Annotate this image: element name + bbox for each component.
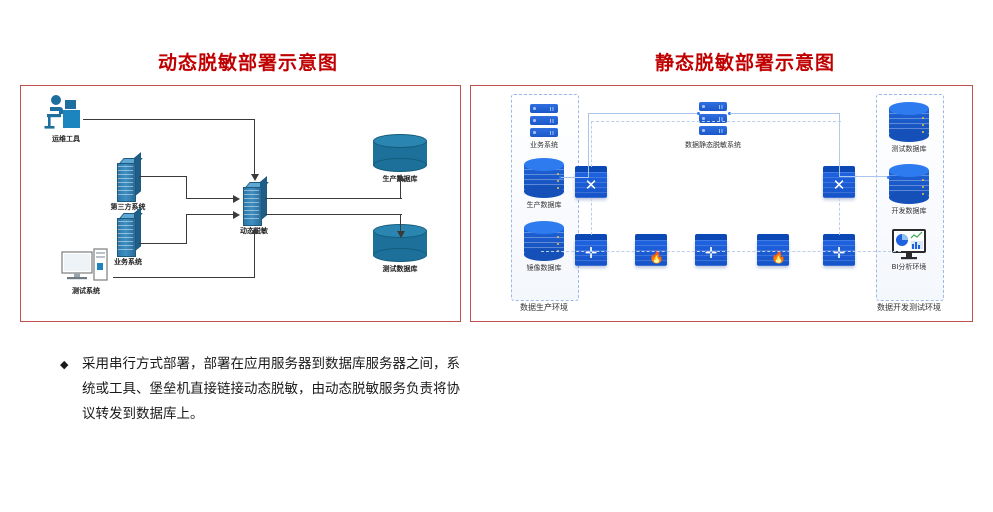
- router-glyph: ✛: [823, 240, 855, 266]
- link-ops-to-masking-h: [83, 119, 255, 120]
- desktop-pc-icon: [61, 248, 111, 286]
- left-panel-title: 动态脱敏部署示意图: [0, 48, 496, 75]
- device-router-2: ✛: [695, 234, 727, 266]
- right-panel-title: 静态脱敏部署示意图: [497, 48, 993, 75]
- node-static-masking-system: 数据静态脱敏系统: [699, 102, 727, 135]
- link-third-party-v: [186, 176, 187, 199]
- link-downcomer-to-devdb-h: [839, 176, 889, 177]
- node-business-systems: 业务系统: [530, 104, 558, 137]
- right-diagram-frame: 数据生产环境 业务系统 生产数据库 镜像数据库: [470, 85, 973, 322]
- right-panel: 静态脱敏部署示意图 数据生产环境 业务系统 生产数据库 镜像: [497, 0, 993, 512]
- operator-workstation-icon: [43, 94, 89, 134]
- node-label-test-system: 测试系统: [72, 286, 100, 296]
- database-cylinder-icon: [889, 102, 929, 142]
- link-riser-to-masking-h: [588, 113, 700, 114]
- flame-glyph: 🔥: [771, 251, 786, 263]
- arrowhead-business: [233, 211, 240, 219]
- node-label-static-masking-system: 数据静态脱敏系统: [685, 140, 741, 150]
- server-icon: [117, 158, 139, 200]
- link-masking-to-downcomer-h: [730, 113, 840, 114]
- dotted-link-switch-right-v-bottom: [839, 198, 840, 235]
- node-label-test-db: 测试数据库: [383, 264, 418, 274]
- device-router-3: ✛: [823, 234, 855, 266]
- router-glyph: ✛: [695, 240, 727, 266]
- server-stack-icon: [530, 104, 558, 137]
- node-test-system: 测试系统: [61, 248, 111, 286]
- link-business-h2: [186, 214, 234, 215]
- link-business-v: [186, 214, 187, 244]
- link-test-system-h: [113, 277, 255, 278]
- router-glyph: ✛: [575, 240, 607, 266]
- node-prod-db: 生产数据库: [524, 158, 564, 198]
- dotted-link-bottom-bus-h: [541, 251, 901, 252]
- firewall-icon: 🔥: [757, 234, 789, 266]
- link-test-system-v: [254, 234, 255, 278]
- arrowhead-prod-db: [397, 174, 405, 181]
- dotted-link-top-h: [591, 121, 841, 122]
- node-ops-tool: 运维工具: [43, 94, 89, 134]
- node-business-system: 业务系统: [117, 213, 139, 255]
- database-cylinder-icon: [889, 164, 929, 204]
- router-icon: ✛: [823, 234, 855, 266]
- link-ops-to-masking-v: [254, 119, 255, 174]
- device-router-1: ✛: [575, 234, 607, 266]
- node-dev-db: 开发数据库: [889, 164, 929, 204]
- bi-monitor-icon: [891, 228, 927, 260]
- node-test-db: 测试数据库: [889, 102, 929, 142]
- node-label-bi-env: BI分析环境: [892, 262, 927, 272]
- node-label-business-systems: 业务系统: [530, 140, 558, 150]
- arrowhead-third-party: [233, 195, 240, 203]
- node-third-party: 第三方系统: [117, 158, 139, 200]
- router-icon: ✛: [575, 234, 607, 266]
- link-masking-to-test-v: [400, 214, 401, 232]
- dotted-link-switch-left-v-bottom: [591, 198, 592, 235]
- node-label-business-system: 业务系统: [114, 257, 142, 267]
- firewall-icon: 🔥: [635, 234, 667, 266]
- group-label-devtest-env: 数据开发测试环境: [877, 302, 941, 313]
- database-cylinder-icon: [524, 158, 564, 198]
- node-bi-env: BI分析环境: [891, 228, 927, 260]
- left-diagram-frame: 运维工具 第三方系统 业务系统: [20, 85, 461, 322]
- node-label-dev-db: 开发数据库: [892, 206, 927, 216]
- database-cylinder-icon: [373, 134, 427, 172]
- left-bullet-text: 采用串行方式部署，部署在应用服务器到数据库服务器之间，系统或工具、堡垒机直接链接…: [82, 352, 460, 427]
- server-icon: [117, 213, 139, 255]
- switch-icon: ✕: [575, 166, 607, 198]
- left-panel: 动态脱敏部署示意图 运维工具 第三方系统: [0, 0, 496, 512]
- link-proddb-to-riser-h: [561, 177, 589, 178]
- link-business-h1: [139, 243, 187, 244]
- link-third-party-h2: [186, 198, 234, 199]
- bullet-diamond-icon: ◆: [60, 352, 82, 427]
- dotted-link-switch-left-v-top: [591, 121, 592, 167]
- router-icon: ✛: [695, 234, 727, 266]
- node-prod-db: 生产数据库: [373, 134, 427, 172]
- link-riser-v: [588, 113, 589, 178]
- flame-glyph: 🔥: [649, 251, 664, 263]
- arrowhead-ops-to-masking: [251, 174, 259, 181]
- node-label-ops-tool: 运维工具: [52, 134, 80, 144]
- node-label-prod-db: 生产数据库: [527, 200, 562, 210]
- switch-glyph: ✕: [575, 172, 607, 198]
- node-label-test-db: 测试数据库: [892, 144, 927, 154]
- node-mirror-db: 镜像数据库: [524, 221, 564, 261]
- server-icon: [243, 182, 265, 224]
- left-bullet-block: ◆ 采用串行方式部署，部署在应用服务器到数据库服务器之间，系统或工具、堡垒机直接…: [60, 352, 460, 427]
- arrowhead-test-system: [251, 227, 259, 234]
- device-firewall-1: 🔥: [635, 234, 667, 266]
- device-switch-left: ✕: [575, 166, 607, 198]
- dotted-link-switch-right-v-top: [839, 121, 840, 167]
- link-masking-to-prod-v: [400, 181, 401, 199]
- group-label-production-env: 数据生产环境: [520, 302, 568, 313]
- bullet-item: ◆ 采用串行方式部署，部署在应用服务器到数据库服务器之间，系统或工具、堡垒机直接…: [60, 352, 460, 427]
- device-firewall-2: 🔥: [757, 234, 789, 266]
- arrowhead-test-db: [397, 231, 405, 238]
- link-third-party-h1: [139, 176, 187, 177]
- link-masking-to-prod-h: [265, 198, 402, 199]
- node-label-mirror-db: 镜像数据库: [527, 263, 562, 273]
- database-cylinder-icon: [524, 221, 564, 261]
- server-stack-icon: [699, 102, 727, 135]
- node-dynamic-masking: 动态脱敏: [243, 182, 265, 224]
- link-masking-to-test-h: [265, 214, 402, 215]
